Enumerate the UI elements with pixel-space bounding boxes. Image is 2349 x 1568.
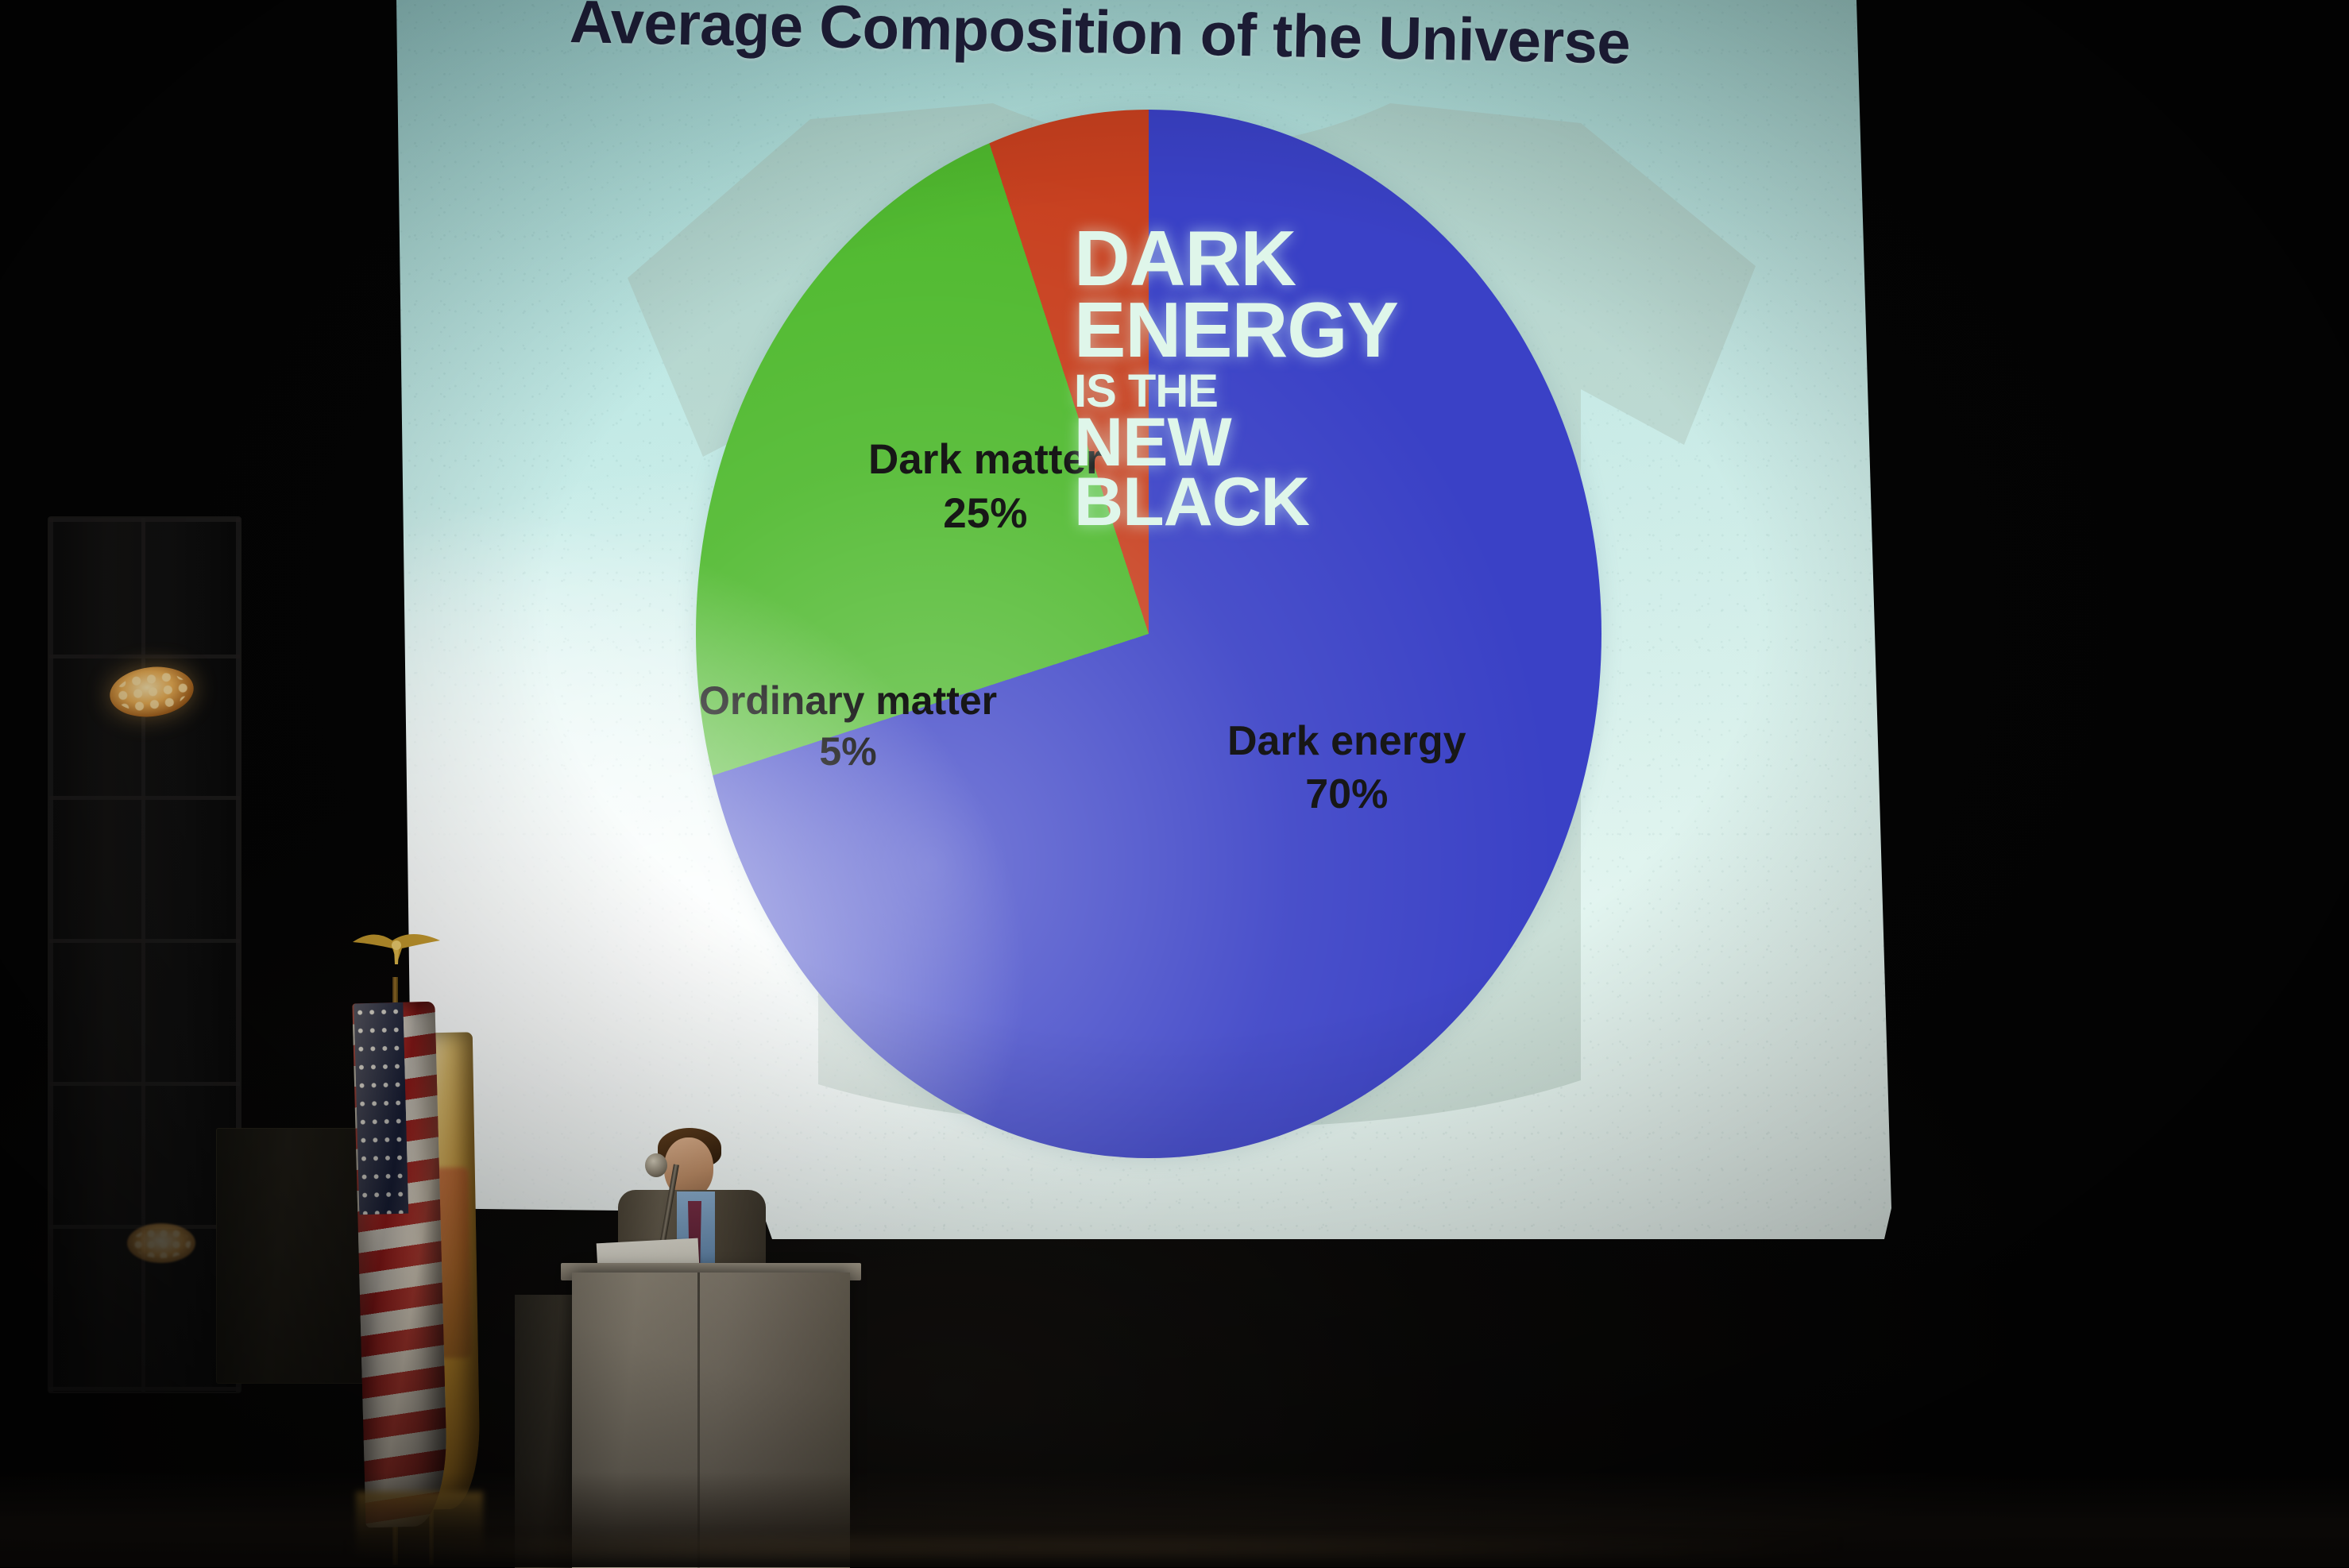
stage-spotlight-secondary-icon	[127, 1223, 195, 1263]
microphone-icon	[645, 1153, 667, 1177]
lighting-truss	[48, 516, 241, 1393]
projection-screen: Average Composition of the Universe Dark…	[0, 0, 2349, 1271]
label-dark-energy: Dark energy 70%	[1227, 715, 1466, 821]
label-ordinary-matter-value: 5%	[819, 729, 876, 774]
eagle-finial-icon	[350, 925, 443, 980]
label-dark-matter-name: Dark matter	[868, 436, 1103, 483]
slogan-line-1: DARK	[1074, 222, 1567, 294]
auditorium-stage: Average Composition of the Universe Dark…	[0, 0, 2349, 1567]
label-dark-matter: Dark matter 25%	[868, 433, 1103, 541]
label-dark-energy-name: Dark energy	[1227, 718, 1466, 764]
tshirt-slogan: DARK ENERGY IS THE NEW BLACK	[1074, 222, 1567, 534]
us-flag	[352, 1002, 448, 1527]
pa-speaker-cabinet	[216, 1128, 377, 1384]
stage-floor-highlight	[342, 1537, 1851, 1558]
label-ordinary-matter: Ordinary matter 5%	[699, 675, 997, 777]
label-ordinary-matter-name: Ordinary matter	[699, 678, 997, 723]
label-dark-matter-value: 25%	[943, 490, 1027, 537]
label-dark-energy-value: 70%	[1305, 771, 1388, 817]
us-flag-shading	[352, 1002, 448, 1527]
slogan-line-5: BLACK	[1074, 471, 1567, 534]
slogan-line-2: ENERGY	[1074, 294, 1567, 365]
